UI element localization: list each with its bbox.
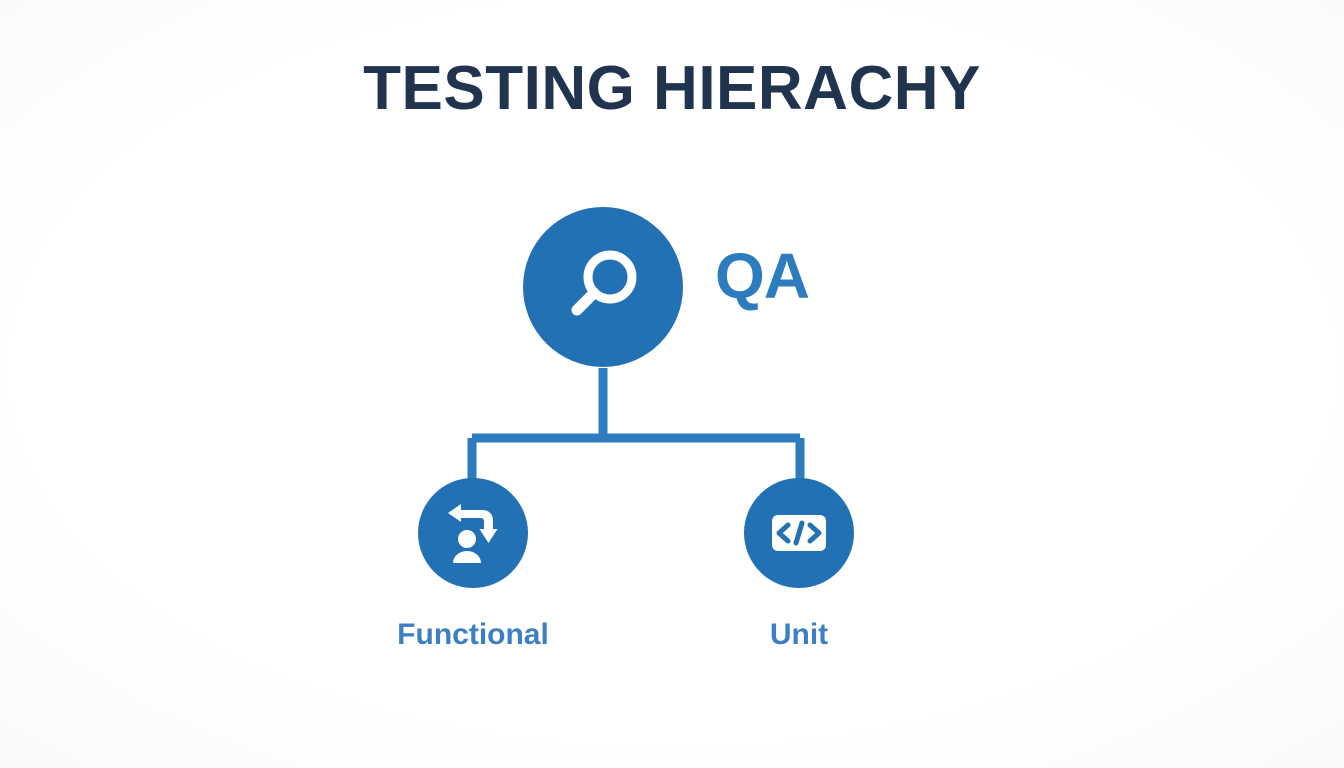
node-functional-circle[interactable] bbox=[418, 478, 528, 588]
node-qa-circle[interactable] bbox=[523, 207, 683, 367]
node-qa[interactable] bbox=[523, 207, 683, 367]
user-cycle-icon bbox=[437, 497, 509, 569]
node-unit-label: Unit bbox=[639, 618, 959, 652]
node-unit[interactable] bbox=[744, 478, 854, 588]
page-title: TESTING HIERACHY bbox=[0, 56, 1344, 121]
node-functional-label: Functional bbox=[313, 618, 633, 652]
node-qa-label: QA bbox=[715, 244, 809, 308]
code-brackets-icon bbox=[763, 497, 835, 569]
node-functional[interactable] bbox=[418, 478, 528, 588]
node-unit-circle[interactable] bbox=[744, 478, 854, 588]
magnifier-icon bbox=[555, 239, 651, 335]
diagram-canvas: TESTING HIERACHY QA bbox=[0, 0, 1344, 768]
